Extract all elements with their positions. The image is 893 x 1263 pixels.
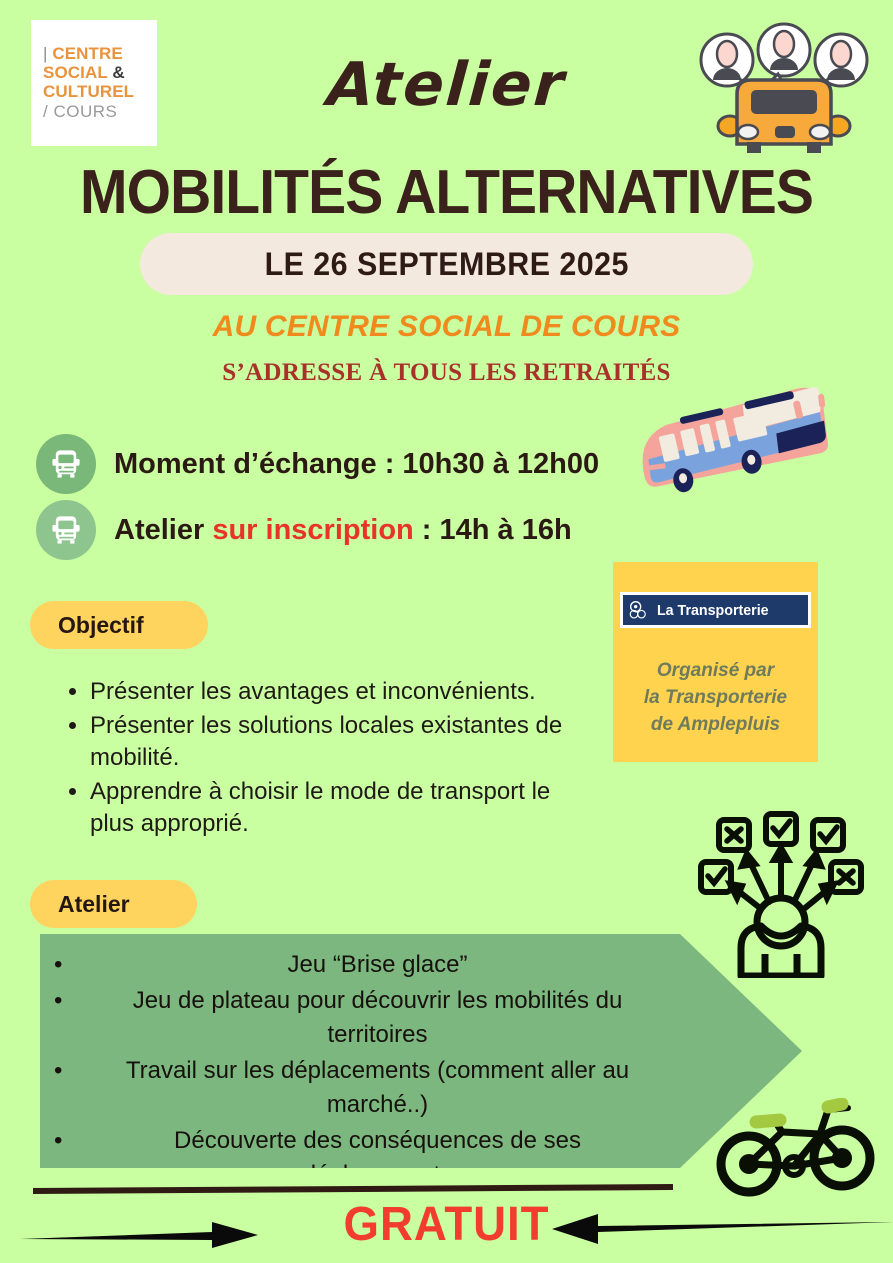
objectif-list: Présenter les avantages et inconvénients… xyxy=(62,676,600,842)
audience-subtitle: S’ADRESSE À TOUS LES RETRAITÉS xyxy=(0,359,893,387)
objectif-badge-label: Objectif xyxy=(58,612,144,639)
organizer-caption-line-2: la Transporterie xyxy=(613,684,818,711)
bus-icon xyxy=(36,500,96,560)
schedule-text-afternoon: Atelier sur inscription : 14h à 16h xyxy=(114,514,572,547)
location-subtitle: AU CENTRE SOCIAL DE COURS xyxy=(0,310,893,344)
organizer-caption-line-3: de Amplepluis xyxy=(613,711,818,738)
footer-divider xyxy=(33,1184,673,1194)
gears-icon xyxy=(629,600,649,620)
transporterie-logo-text: La Transporterie xyxy=(657,602,769,619)
list-item: Travail sur les déplacements (comment al… xyxy=(40,1054,685,1122)
list-item: Jeu “Brise glace” xyxy=(40,948,685,982)
schedule-suffix: 10h30 à 12h00 xyxy=(402,448,599,480)
schedule-row-afternoon: Atelier sur inscription : 14h à 16h xyxy=(36,500,572,560)
transporterie-logo: La Transporterie xyxy=(620,592,811,628)
organizer-card: La Transporterie Organisé par la Transpo… xyxy=(613,562,818,762)
page-title: MOBILITÉS ALTERNATIVES xyxy=(36,160,858,226)
list-item: Jeu de plateau pour découvrir les mobili… xyxy=(40,984,685,1052)
transporterie-logo-inner: La Transporterie xyxy=(623,595,808,625)
list-item: Présenter les avantages et inconvénients… xyxy=(90,676,600,708)
schedule-text-morning: Moment d’échange : 10h30 à 12h00 xyxy=(114,448,599,481)
date-text: LE 26 SEPTEMBRE 2025 xyxy=(264,246,628,283)
list-item: Découverte des conséquences de ses dépla… xyxy=(40,1124,685,1192)
atelier-list: Jeu “Brise glace” Jeu de plateau pour dé… xyxy=(40,948,685,1194)
bus-glyph xyxy=(49,447,83,481)
list-item: Apprendre à choisir le mode de transport… xyxy=(90,776,600,840)
bus-illustration xyxy=(627,387,837,497)
atelier-arrow-banner: Jeu “Brise glace” Jeu de plateau pour dé… xyxy=(40,934,802,1168)
bus-glyph xyxy=(49,513,83,547)
poster-root: | CENTRE SOCIAL & CULTUREL / COURS xyxy=(0,0,893,1263)
objectif-badge: Objectif xyxy=(30,601,208,649)
organizer-caption-line-1: Organisé par xyxy=(613,657,818,684)
date-banner: LE 26 SEPTEMBRE 2025 xyxy=(140,233,753,295)
script-title: Atelier xyxy=(0,50,893,120)
schedule-row-morning: Moment d’échange : 10h30 à 12h00 xyxy=(36,434,599,494)
schedule-suffix: : 14h à 16h xyxy=(414,514,572,546)
bicycle-icon xyxy=(716,1098,878,1198)
atelier-badge: Atelier xyxy=(30,880,197,928)
arrow-left-pointing-icon xyxy=(536,1212,893,1246)
schedule-prefix: Moment d’échange : xyxy=(114,448,402,480)
schedule-prefix: Atelier xyxy=(114,514,212,546)
decision-choice-icon xyxy=(697,810,865,978)
schedule-emphasis: sur inscription xyxy=(212,514,413,546)
organizer-caption: Organisé par la Transporterie de Amplepl… xyxy=(613,657,818,738)
atelier-badge-label: Atelier xyxy=(58,891,130,918)
list-item: Présenter les solutions locales existant… xyxy=(90,710,600,774)
bus-icon xyxy=(36,434,96,494)
